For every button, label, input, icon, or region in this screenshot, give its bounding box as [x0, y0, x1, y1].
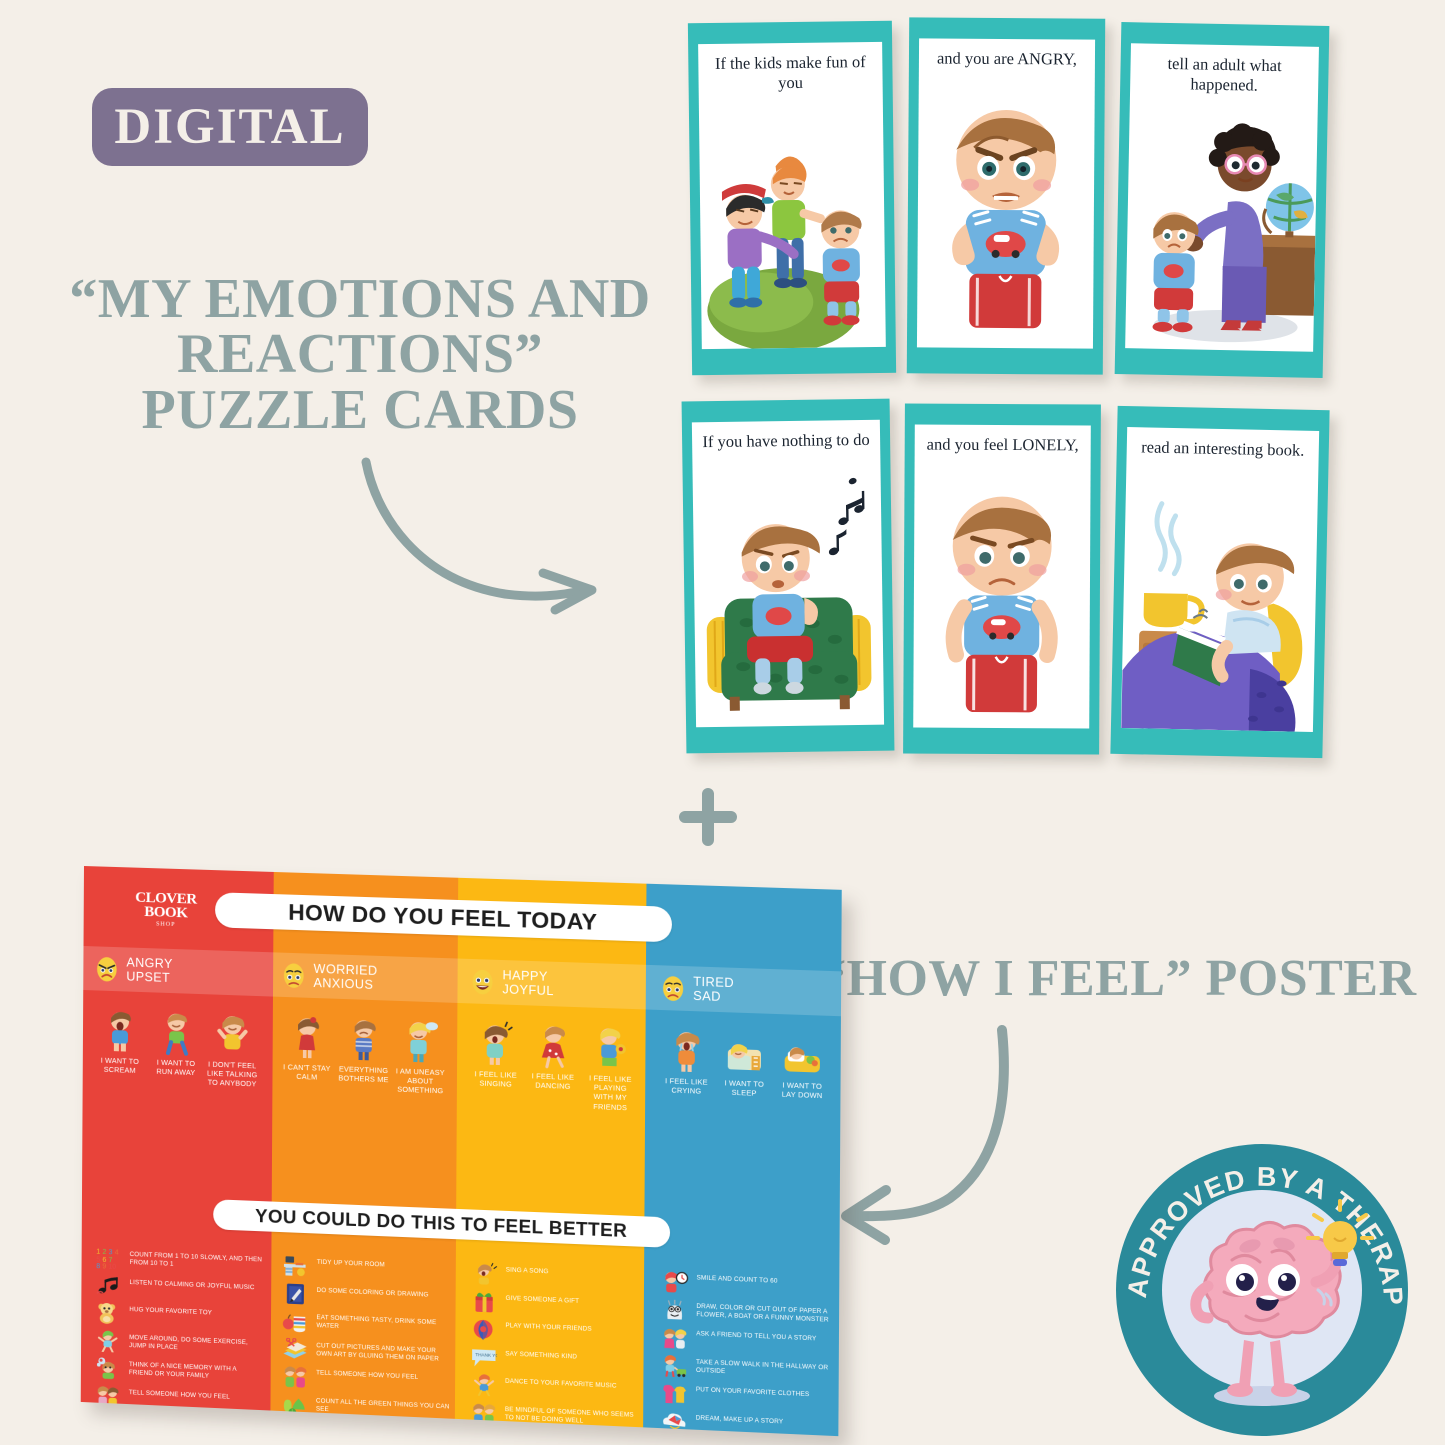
emotion-angry-label: ANGRY UPSET	[126, 955, 173, 985]
feeling-item: I AM UNEASY ABOUT SOMETHING	[394, 1017, 447, 1112]
screaming-girl-icon	[94, 1006, 146, 1054]
card-illustration-lonely-boy	[913, 469, 1090, 729]
singing-girl-icon	[469, 1020, 522, 1068]
crying-girl-icon	[660, 1026, 714, 1075]
actions-angry: 1 2 3 4 5 6 7 8 9 10 COUNT FROM 1 TO 10 …	[81, 1238, 269, 1406]
feelings-tired: I FEEL LIKE CRYING I WANT TO SLEEP	[648, 1020, 841, 1127]
action-item: LISTEN TO CALMING OR JOYFUL MUSIC	[95, 1274, 262, 1301]
green-vegetables-icon	[282, 1392, 308, 1415]
music-notes-icon	[95, 1274, 121, 1297]
how-i-feel-poster[interactable]: CLOVER BOOK SHOP HOW DO YOU FEEL TODAY Y…	[81, 866, 842, 1436]
sleeping-child-icon	[717, 1028, 771, 1077]
action-item: TIDY UP YOUR ROOM	[282, 1254, 450, 1281]
card-illustration-telling-adult	[1125, 87, 1318, 352]
svg-text:2: 2	[102, 1249, 106, 1256]
action-item: BE MINDFUL OF SOMEONE WHO SEEMS TO NOT B…	[470, 1401, 640, 1429]
svg-text:4: 4	[115, 1250, 119, 1257]
two-children-icon	[95, 1384, 121, 1407]
svg-text:10: 10	[109, 1264, 117, 1270]
card-illustration-kids-teasing	[699, 86, 886, 349]
thank-you-bubble-icon: THANK YOU	[470, 1345, 497, 1368]
svg-text:9: 9	[102, 1264, 106, 1270]
feelings-worried: I CAN'T STAY CALM EVERYTHING BOTHERS ME	[269, 1007, 458, 1113]
poster-title: “HOW I FEEL” POSTER	[820, 953, 1440, 1004]
thinking-child-icon	[95, 1357, 121, 1380]
ball-icon	[471, 1318, 498, 1341]
approved-by-therapist-badge: APPROVED BY A THERAPIST	[1112, 1140, 1412, 1440]
actions-tired: SMILE AND COUNT TO 60 DRAW, COLOR OR CUT…	[646, 1261, 839, 1432]
feeling-item: I FEEL LIKE SINGING	[469, 1020, 523, 1115]
arrow-to-cards-icon	[330, 430, 620, 610]
card-caption: If you have nothing to do	[692, 430, 880, 452]
two-children-icon	[282, 1365, 308, 1388]
action-item: TAKE A SLOW WALK IN THE HALLWAY OR OUTSI…	[661, 1354, 833, 1382]
action-item: TELL SOMEONE HOW YOU FEEL	[95, 1384, 262, 1412]
two-friends-icon	[470, 1401, 497, 1424]
feelings-happy: I FEEL LIKE SINGING I FEEL LIKE DANCING	[458, 1013, 649, 1119]
feeling-item: EVERYTHING BOTHERS ME	[337, 1015, 390, 1110]
svg-text:6: 6	[102, 1257, 106, 1264]
actions-worried: TIDY UP YOUR ROOM DO SOME COLORING OR DR…	[267, 1246, 456, 1415]
angry-face-icon	[95, 955, 118, 983]
digital-badge: DIGITAL	[92, 88, 368, 166]
apple-and-cup-icon	[282, 1310, 308, 1333]
dancing-girl-icon	[526, 1022, 579, 1070]
monster-icon	[661, 1298, 688, 1321]
numbers-icon: 1 2 3 4 5 6 7 8 9 10	[96, 1247, 122, 1270]
feeling-item: I DON'T FEEL LIKE TALKING TO ANYBODY	[206, 1010, 259, 1104]
action-item: COUNT ALL THE GREEN THINGS YOU CAN SEE	[282, 1392, 450, 1420]
action-item: THANK YOU SAY SOMETHING KIND	[470, 1345, 640, 1373]
emotion-happy-label: HAPPY JOYFUL	[502, 968, 554, 998]
feeling-item: I WANT TO RUN AWAY	[150, 1008, 203, 1102]
scissors-paper-icon	[282, 1337, 308, 1360]
arrow-to-poster-icon	[830, 1020, 1080, 1255]
gift-icon	[471, 1290, 498, 1313]
action-item: PUT ON YOUR FAVORITE CLOTHES	[661, 1381, 833, 1409]
upset-girl-icon	[206, 1010, 259, 1058]
emotion-angry: ANGRY UPSET	[83, 946, 270, 996]
emotion-worried-label: WORRIED ANXIOUS	[313, 962, 377, 992]
emotion-happy: HAPPY JOYFUL	[458, 959, 649, 1010]
action-item: HUG YOUR FAVORITE TOY	[95, 1302, 262, 1329]
action-item: TELL SOMEONE HOW YOU FEEL	[282, 1365, 450, 1393]
teddy-bear-icon	[95, 1302, 121, 1325]
puzzle-card[interactable]: If the kids make fun of you	[688, 21, 896, 375]
feeling-item: I FEEL LIKE CRYING	[659, 1026, 713, 1121]
clover-book-logo: CLOVER BOOK SHOP	[124, 891, 208, 929]
running-boy-icon	[150, 1008, 202, 1056]
card-caption: and you are ANGRY,	[919, 48, 1095, 69]
emotion-tired-label: TIRED SAD	[693, 975, 734, 1005]
action-item: DRAW, COLOR OR CUT OUT OF PAPER A FLOWER…	[661, 1298, 833, 1326]
feeling-item: I WANT TO SLEEP	[717, 1028, 771, 1123]
action-item: EAT SOMETHING TASTY, DRINK SOME WATER	[282, 1310, 450, 1337]
jumping-child-icon	[95, 1329, 121, 1352]
worried-face-icon	[282, 961, 305, 989]
singing-child-icon	[471, 1262, 498, 1285]
action-item: MOVE AROUND, DO SOME EXERCISE, JUMP IN P…	[95, 1329, 262, 1356]
walking-child-icon	[661, 1354, 688, 1377]
friends-talking-icon	[661, 1326, 688, 1349]
svg-text:1: 1	[96, 1249, 100, 1256]
feeling-item: I FEEL LIKE DANCING	[526, 1022, 580, 1117]
playing-boy-icon	[584, 1024, 638, 1073]
uneasy-boy-icon	[394, 1017, 447, 1065]
restless-girl-icon	[281, 1013, 334, 1061]
sad-face-icon	[661, 974, 685, 1002]
feelings-angry: I WANT TO SCREAM I WANT TO RUN AWAY	[83, 1000, 270, 1105]
svg-text:3: 3	[109, 1249, 113, 1256]
action-item: THINK OF A NICE MEMORY WITH A FRIEND OR …	[95, 1357, 262, 1384]
puzzle-card[interactable]: If you have nothing to do	[682, 399, 895, 754]
svg-text:5: 5	[96, 1256, 100, 1263]
svg-text:8: 8	[96, 1263, 100, 1269]
card-caption: and you feel LONELY,	[915, 435, 1091, 456]
action-item: DO SOME COLORING OR DRAWING	[282, 1282, 450, 1309]
laying-child-icon	[775, 1030, 829, 1079]
action-item: 1 2 3 4 5 6 7 8 9 10 COUNT FROM 1 TO 10 …	[96, 1247, 263, 1274]
puzzle-card[interactable]: tell an adult what happened.	[1115, 22, 1330, 378]
emotion-worried: WORRIED ANXIOUS	[270, 952, 459, 1003]
clothes-icon	[661, 1381, 688, 1405]
dancing-child-icon	[470, 1373, 497, 1396]
action-item: PLAY WITH YOUR FRIENDS	[471, 1318, 641, 1346]
card-caption: read an interesting book.	[1127, 437, 1319, 461]
action-item: SMILE AND COUNT TO 60	[661, 1270, 833, 1297]
action-item: GIVE SOMEONE A GIFT	[471, 1290, 641, 1317]
plus-icon	[679, 788, 737, 846]
feeling-item: I CAN'T STAY CALM	[280, 1013, 333, 1107]
card-illustration-angry-boy	[917, 82, 1095, 348]
dream-cloud-icon	[661, 1409, 688, 1433]
card-illustration-reading-boy	[1121, 471, 1318, 732]
clock-child-icon	[661, 1270, 688, 1293]
feeling-item: I FEEL LIKE PLAYING WITH MY FRIENDS	[583, 1024, 637, 1119]
action-item: ASK A FRIEND TO TELL YOU A STORY	[661, 1326, 833, 1354]
annoyed-boy-icon	[337, 1015, 390, 1063]
action-item: CUT OUT PICTURES AND MAKE YOUR OWN ART B…	[282, 1337, 450, 1364]
puzzle-card[interactable]: read an interesting book.	[1110, 406, 1329, 758]
happy-face-icon	[471, 968, 495, 996]
action-item: DANCE TO YOUR FAVORITE MUSIC	[470, 1373, 640, 1401]
card-illustration-bored-boy	[692, 464, 884, 728]
actions-section: 1 2 3 4 5 6 7 8 9 10 COUNT FROM 1 TO 10 …	[81, 1238, 840, 1432]
action-item: DREAM, MAKE UP A STORY	[661, 1409, 833, 1436]
emotion-tired: TIRED SAD	[649, 965, 841, 1016]
actions-happy: SING A SONG GIVE SOMEONE A GIFT	[456, 1253, 647, 1423]
feeling-item: I WANT TO SCREAM	[94, 1006, 147, 1100]
svg-text:7: 7	[109, 1257, 113, 1264]
puzzle-card[interactable]: and you are ANGRY,	[907, 17, 1105, 374]
drawing-board-icon	[282, 1282, 308, 1305]
feeling-item: I WANT TO LAY DOWN	[775, 1030, 829, 1126]
action-item: SING A SONG	[471, 1262, 641, 1289]
puzzle-card[interactable]: and you feel LONELY,	[903, 403, 1101, 754]
desk-icon	[282, 1254, 308, 1277]
digital-badge-label: DIGITAL	[114, 98, 345, 156]
product-listing-canvas: DIGITAL “MY EMOTIONS AND REACTIONS” PUZZ…	[0, 0, 1445, 1445]
puzzle-cards-title: “MY EMOTIONS AND REACTIONS” PUZZLE CARDS	[60, 272, 660, 438]
